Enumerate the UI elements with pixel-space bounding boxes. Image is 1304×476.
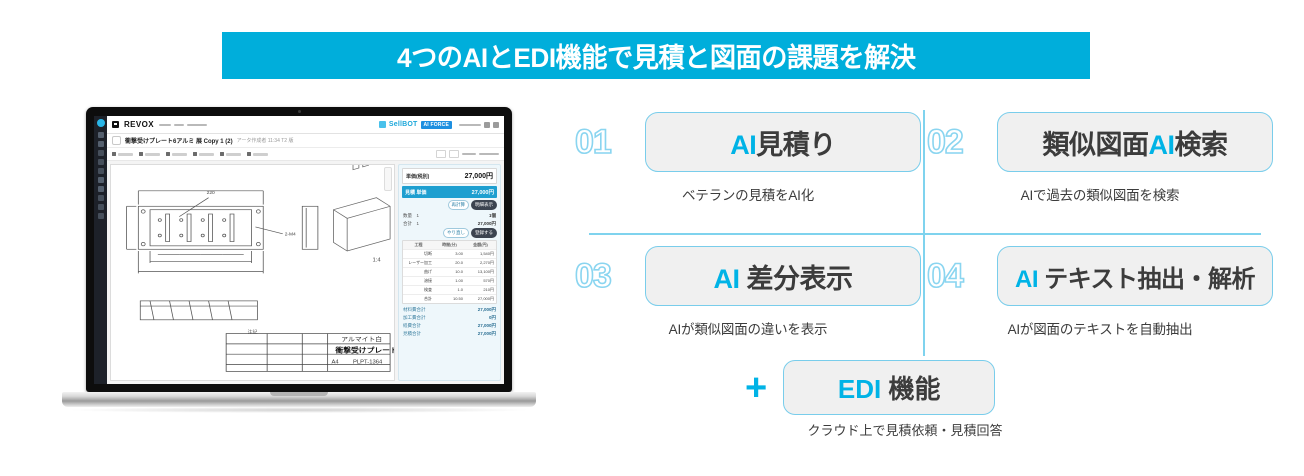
feature-caption-04: AIが図面のテキストを自動抽出 xyxy=(927,318,1273,338)
laptop-mockup: REVOX SellBOT AI FORCE xyxy=(62,107,536,415)
sellbot-logo-icon xyxy=(379,121,386,128)
reset-chip[interactable]: やり直し xyxy=(443,228,469,238)
feature-number-01: 01 xyxy=(575,123,637,162)
cost-table: 工程 時間(分) 金額(円) 切断 3.00 1,540円 xyxy=(402,240,497,304)
edi-title-ai: EDI xyxy=(838,374,881,404)
recalc-chip[interactable]: 再計算 xyxy=(448,200,470,210)
table-row: 切断 3.00 1,540円 xyxy=(403,250,496,259)
table-row: レーザー加工 20.0 2,270円 xyxy=(403,259,496,268)
summary-2-label: 経費合計 xyxy=(403,323,421,329)
quote-highlight-value: 27,000円 xyxy=(472,188,494,196)
cell-0-2: 1,540円 xyxy=(465,250,496,258)
sellbot-brand: SellBOT AI FORCE xyxy=(379,121,454,129)
cell-3-1: 1.00 xyxy=(434,277,465,285)
table-row: 検査 1.0 210円 xyxy=(403,286,496,295)
cell-5-0: 合計 xyxy=(403,295,434,303)
toolbar-label-1 xyxy=(145,153,160,156)
grid-divider-vertical xyxy=(923,110,925,356)
quote-highlight-row[interactable]: 見積 単価 27,000円 xyxy=(402,186,497,198)
quote-line-1-label: 合計 1 xyxy=(403,221,419,227)
cell-1-0: レーザー加工 xyxy=(403,259,434,267)
unit-price-label: 単価(税別) xyxy=(406,173,429,180)
cad-drawing-svg: アルマイト白 衝撃受けプレート6 A4 PLPT-1364 220 2-M4 1… xyxy=(111,165,394,380)
cell-4-0: 検査 xyxy=(403,286,434,294)
detail-chip[interactable]: 明細表示 xyxy=(471,200,497,210)
cell-4-2: 210円 xyxy=(465,286,496,294)
cell-3-2: 570円 xyxy=(465,277,496,285)
summary-0-value: 27,000円 xyxy=(478,307,496,313)
feature-number-03: 03 xyxy=(575,257,637,296)
summary-row: 加工費合計 0円 xyxy=(402,314,497,322)
register-chip[interactable]: 登録する xyxy=(471,228,497,238)
app-main: REVOX SellBOT AI FORCE xyxy=(107,116,504,384)
feature-title-01-rest: 見積り xyxy=(756,130,836,160)
folder-icon[interactable] xyxy=(98,159,104,165)
feature-card-01[interactable]: 01 AI見積り ベテランの見積をAI化 xyxy=(575,104,921,226)
feature-number-04: 04 xyxy=(927,257,989,296)
feature-pill-01[interactable]: AI見積り xyxy=(645,112,921,172)
app-toolbar[interactable] xyxy=(107,148,504,161)
table-row: 合計 10.50 27,000円 xyxy=(403,295,496,303)
feature-pill-04[interactable]: AI テキスト抽出・解析 xyxy=(997,246,1273,306)
feature-title-03: AI 差分表示 xyxy=(713,257,852,296)
feature-title-01-ai: AI xyxy=(730,130,756,160)
revox-logo-text: REVOX xyxy=(124,120,154,129)
summary-3-label: 見積合計 xyxy=(403,331,421,337)
svg-text:PLPT-1364: PLPT-1364 xyxy=(353,360,382,366)
quote-line-1-value: 27,000円 xyxy=(478,221,496,227)
laptop-screen: REVOX SellBOT AI FORCE xyxy=(94,116,504,384)
cell-5-1: 10.50 xyxy=(434,295,465,303)
feature-title-03-rest: 差分表示 xyxy=(739,264,852,294)
summary-0-label: 材料費合計 xyxy=(403,307,426,313)
feature-title-01: AI見積り xyxy=(730,123,836,162)
summary-row: 見積合計 27,000円 xyxy=(402,330,497,338)
svg-text:2-M4: 2-M4 xyxy=(285,232,297,237)
quote-line-0-value: 1個 xyxy=(489,213,496,219)
cell-0-1: 3.00 xyxy=(434,250,465,258)
summary-row: 経費合計 27,000円 xyxy=(402,322,497,330)
prev-page-button[interactable] xyxy=(436,150,446,158)
app-window: REVOX SellBOT AI FORCE xyxy=(94,116,504,384)
quote-action-chips[interactable]: やり直し 登録する xyxy=(402,228,497,238)
feature-caption-01: ベテランの見積をAI化 xyxy=(575,184,921,204)
toolbar-label-3 xyxy=(199,153,214,156)
feature-caption-02: AIで過去の類似図面を検索 xyxy=(927,184,1273,204)
feature-card-03[interactable]: 03 AI 差分表示 AIが類似図面の違いを表示 xyxy=(575,238,921,360)
cad-drawing-pane[interactable]: アルマイト白 衝撃受けプレート6 A4 PLPT-1364 220 2-M4 1… xyxy=(110,164,395,381)
cell-2-2: 13,100円 xyxy=(465,268,496,276)
quote-highlight-label: 見積 単価 xyxy=(405,189,426,196)
edi-section: + EDI 機能 クラウド上で見積依頼・見積回答 xyxy=(745,360,1115,439)
quote-panel[interactable]: 単価(税別) 27,000円 見積 単価 27,000円 再計算 明細表示 xyxy=(398,164,501,381)
grid-icon[interactable] xyxy=(98,168,104,174)
material-icon xyxy=(193,152,197,156)
feature-title-02-pre: 類似図面 xyxy=(1043,130,1149,160)
toolbar-item-5[interactable] xyxy=(247,152,268,156)
laptop-shadow xyxy=(72,407,526,413)
toolbar-label-0 xyxy=(118,153,133,156)
table-row: 溶接 1.00 570円 xyxy=(403,277,496,286)
laptop-base-notch xyxy=(270,392,328,396)
menu-icon[interactable] xyxy=(493,122,499,128)
feature-pill-02[interactable]: 類似図面AI検索 xyxy=(997,112,1273,172)
feature-title-03-ai: AI xyxy=(713,264,739,294)
edi-caption: クラウド上で見積依頼・見積回答 xyxy=(799,420,1011,439)
document-icon[interactable] xyxy=(98,132,104,138)
app-body: アルマイト白 衝撃受けプレート6 A4 PLPT-1364 220 2-M4 1… xyxy=(107,161,504,384)
header-meta-2 xyxy=(174,124,184,126)
user-avatar[interactable] xyxy=(97,119,105,127)
cell-1-1: 20.0 xyxy=(434,259,465,267)
summary-2-value: 27,000円 xyxy=(478,323,496,329)
edi-pill[interactable]: EDI 機能 xyxy=(783,360,995,415)
infographic-page: 4つのAIとEDI機能で見積と図面の課題を解決 xyxy=(0,0,1304,476)
gear-icon[interactable] xyxy=(98,204,104,210)
cell-1-2: 2,270円 xyxy=(465,259,496,267)
col-header-0: 工程 xyxy=(403,241,434,249)
toolbar-right[interactable] xyxy=(436,150,499,158)
grid-divider-horizontal xyxy=(589,233,1261,235)
detail-icon xyxy=(139,152,143,156)
app-sidebar[interactable] xyxy=(94,116,107,384)
cell-5-2: 27,000円 xyxy=(465,295,496,303)
toolbar-label-2 xyxy=(172,153,187,156)
revox-logo-icon xyxy=(112,121,119,128)
title-banner: 4つのAIとEDI機能で見積と図面の課題を解決 xyxy=(222,32,1090,79)
next-page-button[interactable] xyxy=(449,150,459,158)
zoom-label[interactable] xyxy=(462,153,476,155)
toolbar-item-0[interactable] xyxy=(112,152,133,156)
feature-title-02-ai: AI xyxy=(1149,130,1175,160)
svg-text:衝撃受けプレート6: 衝撃受けプレート6 xyxy=(334,346,394,354)
feature-caption-03: AIが類似図面の違いを表示 xyxy=(575,318,921,338)
cell-4-1: 1.0 xyxy=(434,286,465,294)
chart-icon[interactable] xyxy=(98,177,104,183)
feature-title-02: 類似図面AI検索 xyxy=(1043,123,1228,162)
cell-2-1: 10.0 xyxy=(434,268,465,276)
cell-0-0: 切断 xyxy=(403,250,434,258)
cell-3-0: 溶接 xyxy=(403,277,434,285)
drawing-icon xyxy=(112,152,116,156)
svg-text:220: 220 xyxy=(207,190,216,195)
factory-icon[interactable] xyxy=(98,186,104,192)
feature-title-04: AI テキスト抽出・解析 xyxy=(1015,259,1255,294)
breadcrumb-title: 衝撃受けプレート6アルミ 展 Copy 1 (2) xyxy=(125,136,233,145)
svg-text:1:4: 1:4 xyxy=(373,258,381,264)
header-meta xyxy=(159,124,207,126)
quote-line-1: 合計 1 27,000円 xyxy=(402,220,497,228)
toolbar-item-1[interactable] xyxy=(139,152,160,156)
header-actions[interactable] xyxy=(459,122,499,128)
list-icon[interactable] xyxy=(98,150,104,156)
feature-pill-03[interactable]: AI 差分表示 xyxy=(645,246,921,306)
process-icon xyxy=(166,152,170,156)
feature-title-04-ai: AI xyxy=(1015,266,1038,293)
bell-icon[interactable] xyxy=(484,122,490,128)
similar-search-icon xyxy=(220,152,224,156)
banner-title: 4つのAIとEDI機能で見積と図面の課題を解決 xyxy=(397,36,915,75)
summary-3-value: 27,000円 xyxy=(478,331,496,337)
toolbar-label-4 xyxy=(226,153,241,156)
breadcrumb-meta: アータ作成者 11:34 T2 版 xyxy=(237,137,294,144)
laptop-base xyxy=(62,392,536,407)
exit-icon[interactable] xyxy=(98,213,104,219)
feature-title-04-rest: テキスト抽出・解析 xyxy=(1038,266,1255,293)
unit-price-row: 単価(税別) 27,000円 xyxy=(402,168,497,184)
summary-1-label: 加工費合計 xyxy=(403,315,426,321)
feature-title-02-post: 検索 xyxy=(1175,130,1228,160)
svg-text:A4: A4 xyxy=(332,360,339,366)
summary-1-value: 0円 xyxy=(489,315,496,321)
table-row: 曲げ 10.0 13,100円 xyxy=(403,268,496,277)
quote-line-0: 数量 1 1個 xyxy=(402,212,497,220)
edi-title: EDI 機能 xyxy=(838,369,941,406)
diff-icon xyxy=(247,152,251,156)
back-button[interactable] xyxy=(112,136,121,145)
header-meta-3 xyxy=(187,124,207,126)
svg-text:アルマイト白: アルマイト白 xyxy=(341,335,382,343)
feature-card-04[interactable]: 04 AI テキスト抽出・解析 AIが図面のテキストを自動抽出 xyxy=(927,238,1273,360)
ai-force-badge: AI FORCE xyxy=(421,121,453,129)
table-header-row: 工程 時間(分) 金額(円) xyxy=(403,241,496,250)
zoom-control[interactable] xyxy=(384,167,392,191)
feature-card-02[interactable]: 02 類似図面AI検索 AIで過去の類似図面を検索 xyxy=(927,104,1273,226)
sellbot-name: SellBOT xyxy=(389,121,418,128)
svg-text:注記: 注記 xyxy=(248,329,258,336)
col-header-2: 金額(円) xyxy=(465,241,496,249)
view-mode-label[interactable] xyxy=(479,153,499,155)
feature-grid: 01 AI見積り ベテランの見積をAI化 02 類似図面AI検索 AIで過去の類… xyxy=(575,104,1275,350)
search-icon[interactable] xyxy=(98,141,104,147)
toolbar-item-2[interactable] xyxy=(166,152,187,156)
breadcrumb[interactable]: 衝撃受けプレート6アルミ 展 Copy 1 (2) アータ作成者 11:34 T… xyxy=(107,134,504,148)
header-account-label[interactable] xyxy=(459,124,481,126)
quote-chips[interactable]: 再計算 明細表示 xyxy=(402,200,497,210)
webcam-icon xyxy=(298,110,301,113)
col-header-1: 時間(分) xyxy=(434,241,465,249)
unit-price-value: 27,000円 xyxy=(465,171,493,181)
toolbar-item-4[interactable] xyxy=(220,152,241,156)
toolbar-item-3[interactable] xyxy=(193,152,214,156)
toolbar-label-5 xyxy=(253,153,268,156)
laptop-lid: REVOX SellBOT AI FORCE xyxy=(86,107,512,392)
plus-icon: + xyxy=(745,369,767,407)
edi-title-rest: 機能 xyxy=(881,374,940,404)
feature-number-02: 02 xyxy=(927,123,989,162)
app-header: REVOX SellBOT AI FORCE xyxy=(107,116,504,134)
header-meta-1 xyxy=(159,124,171,126)
clock-icon[interactable] xyxy=(98,195,104,201)
cell-2-0: 曲げ xyxy=(403,268,434,276)
quote-line-0-label: 数量 1 xyxy=(403,213,419,219)
summary-row: 材料費合計 27,000円 xyxy=(402,306,497,314)
